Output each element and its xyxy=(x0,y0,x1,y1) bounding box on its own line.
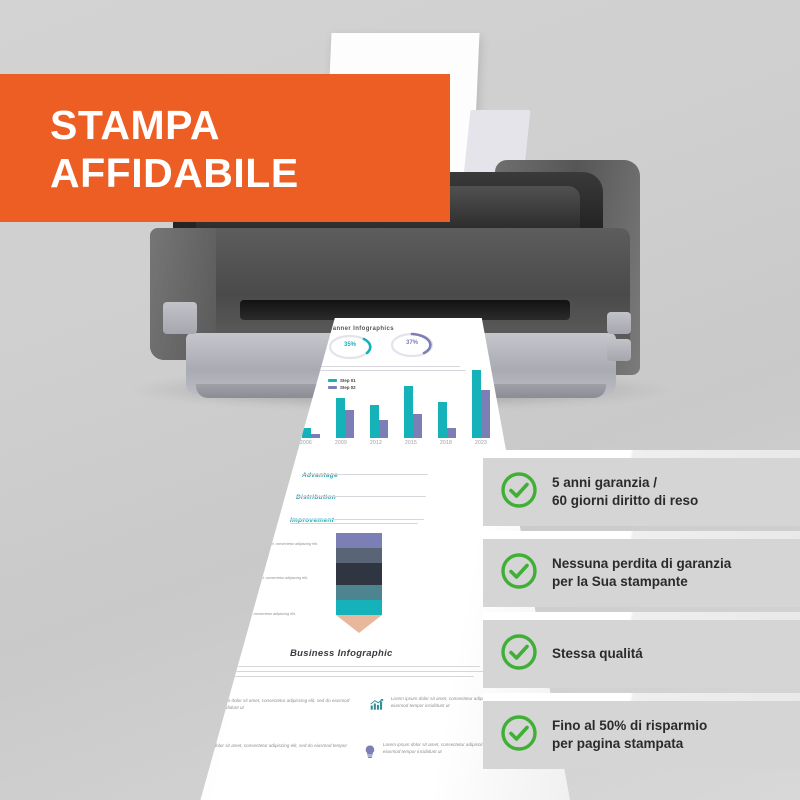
feature-text-2: Nessuna perdita di garanzia per la Sua s… xyxy=(552,555,731,591)
funnel-value-3: 17% xyxy=(236,602,248,608)
people-group-icon xyxy=(180,698,197,714)
list-item: 02 xyxy=(272,485,282,495)
feature-row-4[interactable]: Fino al 50% di risparmio per pagina stam… xyxy=(483,701,800,769)
feature-line-1: Nessuna perdita di garanzia xyxy=(552,556,731,571)
check-circle-icon xyxy=(500,633,538,676)
printer-paper-slot xyxy=(240,300,570,320)
headline-banner: STAMPA AFFIDABILE xyxy=(0,74,450,222)
feature-line-1: Fino al 50% di risparmio xyxy=(552,718,707,733)
printer-control-button-2[interactable] xyxy=(607,339,631,361)
feature-text-4: Fino al 50% di risparmio per pagina stam… xyxy=(552,717,707,753)
list-item-number: 02 xyxy=(272,485,282,495)
feature-text-3: Stessa qualitá xyxy=(552,645,643,663)
feature-line-2: 60 giorni diritto di reso xyxy=(552,493,698,508)
list-item-number: 01 xyxy=(278,463,288,473)
feature-line-1: 5 anni garanzia / xyxy=(552,475,657,490)
promo-image: Banner Infographics 35% 37% xyxy=(0,0,800,800)
funnel-value-1: 24% xyxy=(256,532,268,538)
list-item: 03 xyxy=(266,508,276,518)
feature-line-2: per pagina stampata xyxy=(552,736,683,751)
list-item-number: 03 xyxy=(266,508,276,518)
feature-row-2[interactable]: Nessuna perdita di garanzia per la Sua s… xyxy=(483,539,800,607)
check-circle-icon xyxy=(500,714,538,757)
list-item: 01 xyxy=(278,463,288,473)
feature-row-1[interactable]: 5 anni garanzia / 60 giorni diritto di r… xyxy=(483,458,800,526)
headline-line-1: STAMPA xyxy=(50,102,220,148)
funnel-value-2: 26% xyxy=(246,566,258,572)
printer-power-button[interactable] xyxy=(163,302,197,334)
feature-text-1: 5 anni garanzia / 60 giorni diritto di r… xyxy=(552,474,698,510)
clock-icon xyxy=(162,743,179,762)
pencil-lead-icon xyxy=(166,411,180,420)
printer-control-button-1[interactable] xyxy=(607,312,631,334)
check-circle-icon xyxy=(500,471,538,514)
check-circle-icon xyxy=(500,552,538,595)
page-title: STAMPA AFFIDABILE xyxy=(50,102,299,197)
feature-row-3[interactable]: Stessa qualitá xyxy=(483,620,800,688)
feature-line-2: per la Sua stampante xyxy=(552,574,688,589)
headline-line-2: AFFIDABILE xyxy=(50,150,299,196)
